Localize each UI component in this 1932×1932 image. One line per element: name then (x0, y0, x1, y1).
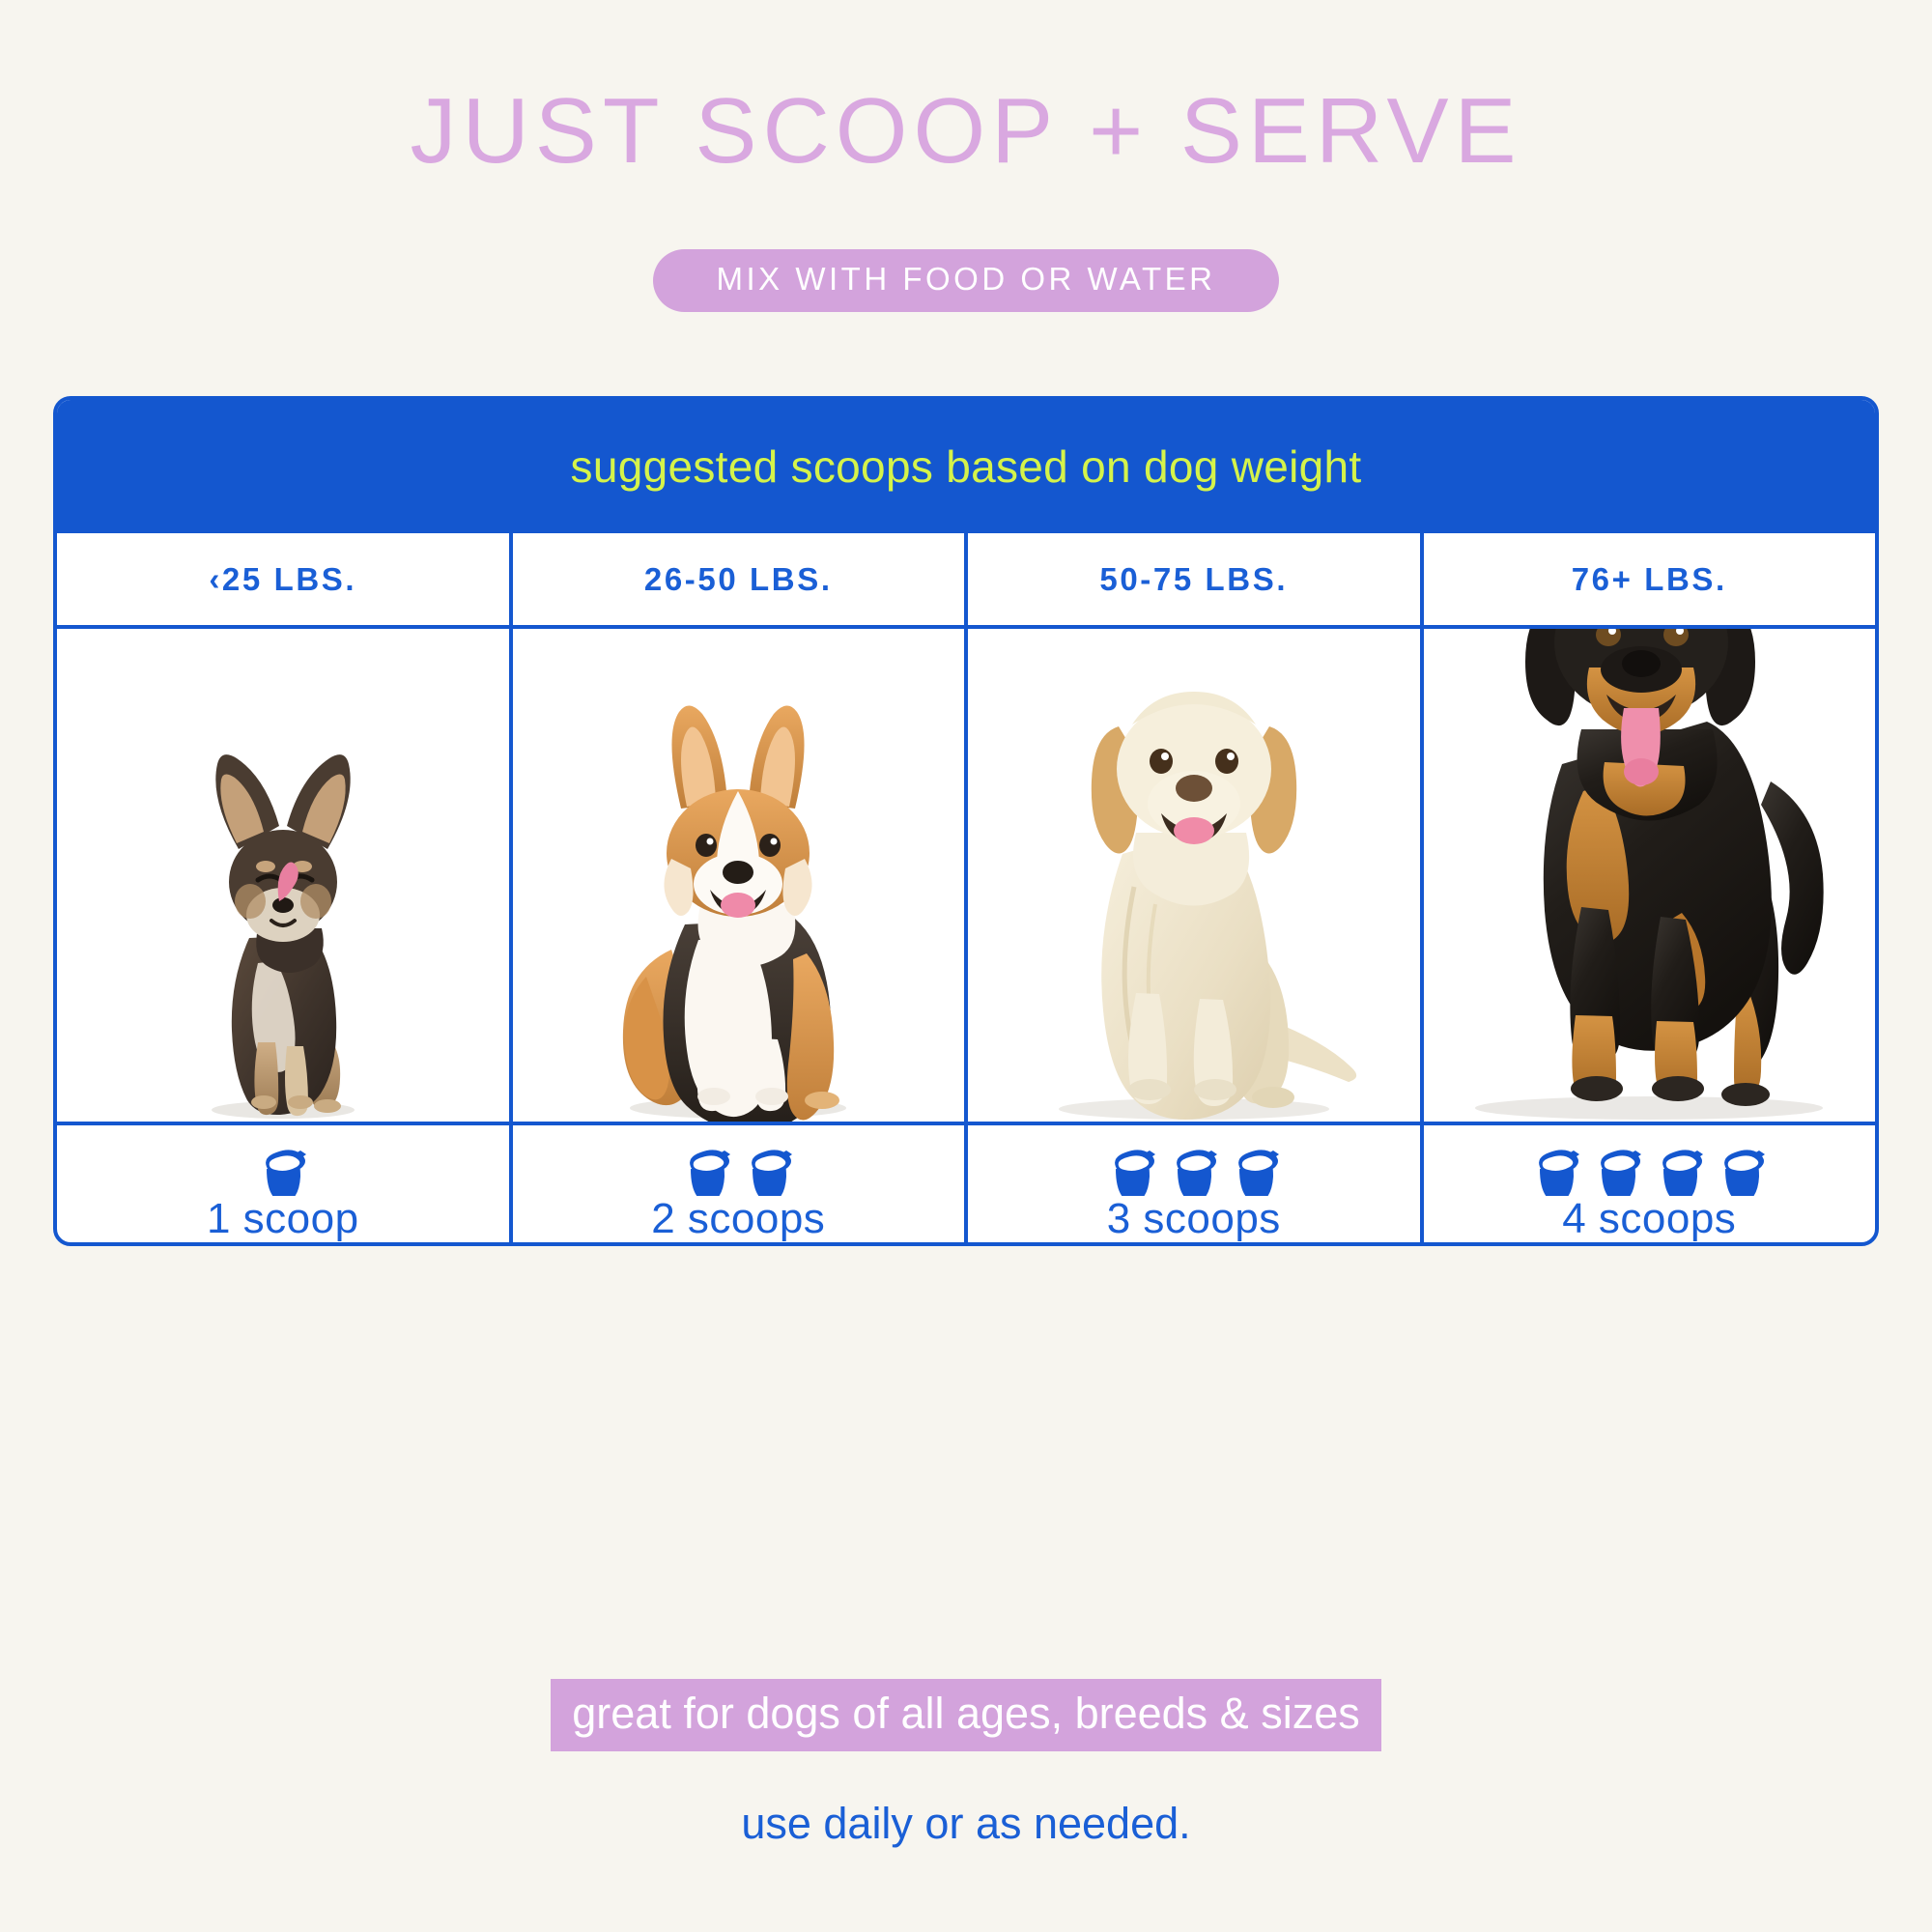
dog-cell-labrador (968, 629, 1424, 1122)
dog-photo-row (57, 629, 1875, 1125)
scoop-label-2: 2 scoops (651, 1198, 825, 1240)
scoop-icon (1104, 1146, 1160, 1196)
scoop-cell-3: 3 scoops (968, 1125, 1424, 1246)
infographic-page: JUST SCOOP + SERVE MIX WITH FOOD OR WATE… (0, 0, 1932, 1932)
weight-header-cell-1: ‹25 LBS. (57, 533, 513, 625)
scoop-icon (1652, 1146, 1708, 1196)
scoop-icon (741, 1146, 797, 1196)
scoop-icon-group-2 (679, 1140, 797, 1196)
table-banner-text: suggested scoops based on dog weight (571, 440, 1362, 493)
footer-highlight-container: great for dogs of all ages, breeds & siz… (0, 1679, 1932, 1751)
scoop-icon (1166, 1146, 1222, 1196)
weight-header-cell-4: 76+ LBS. (1424, 533, 1876, 625)
feeding-guide-table: suggested scoops based on dog weight ‹25… (53, 396, 1879, 1246)
scoop-icon (1528, 1146, 1584, 1196)
footer-note-text: use daily or as needed. (0, 1799, 1932, 1849)
subtitle-pill: MIX WITH FOOD OR WATER (653, 249, 1280, 312)
subtitle-container: MIX WITH FOOD OR WATER (0, 249, 1932, 312)
dog-cell-chihuahua (57, 629, 513, 1122)
scoop-cell-4: 4 scoops (1424, 1125, 1876, 1246)
dog-cell-corgi (513, 629, 969, 1122)
scoop-label-1: 1 scoop (207, 1198, 359, 1240)
labrador-image (1020, 634, 1368, 1122)
scoop-icon-group-4 (1528, 1140, 1770, 1196)
dog-cell-rottweiler (1424, 629, 1876, 1122)
scoop-icon-group-3 (1104, 1140, 1284, 1196)
scoop-icon (1590, 1146, 1646, 1196)
scoop-cell-2: 2 scoops (513, 1125, 969, 1246)
scoop-row: 1 scoop 2 s (57, 1125, 1875, 1246)
page-title: JUST SCOOP + SERVE (0, 85, 1932, 178)
rottweiler-image (1446, 629, 1852, 1122)
scoop-icon (679, 1146, 735, 1196)
scoop-label-3: 3 scoops (1107, 1198, 1281, 1240)
corgi-image (579, 687, 897, 1122)
scoop-label-4: 4 scoops (1562, 1198, 1736, 1240)
footer-highlight-text: great for dogs of all ages, breeds & siz… (551, 1679, 1380, 1751)
scoop-icon-group-1 (255, 1140, 311, 1196)
weight-header-row: ‹25 LBS. 26-50 LBS. 50-75 LBS. 76+ LBS. (57, 533, 1875, 629)
scoop-icon (1714, 1146, 1770, 1196)
weight-header-cell-2: 26-50 LBS. (513, 533, 969, 625)
weight-header-cell-3: 50-75 LBS. (968, 533, 1424, 625)
scoop-cell-1: 1 scoop (57, 1125, 513, 1246)
scoop-icon (1228, 1146, 1284, 1196)
table-banner: suggested scoops based on dog weight (57, 400, 1875, 533)
scoop-icon (255, 1146, 311, 1196)
chihuahua-image (157, 735, 409, 1122)
